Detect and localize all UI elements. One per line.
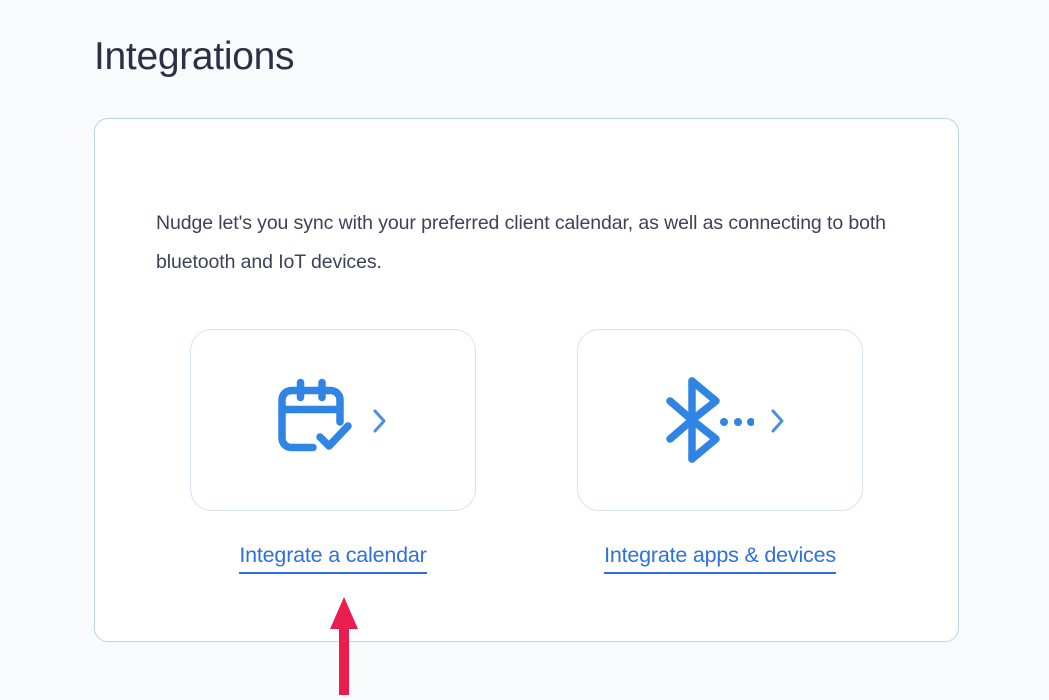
apps-devices-link-wrapper: Integrate apps & devices bbox=[577, 544, 863, 574]
calendar-link-wrapper: Integrate a calendar bbox=[190, 544, 476, 574]
page-title: Integrations bbox=[94, 34, 294, 81]
chevron-right-icon[interactable] bbox=[770, 407, 786, 435]
integrations-card: Nudge let's you sync with your preferred… bbox=[94, 118, 959, 642]
integration-option-apps-devices: Integrate apps & devices bbox=[577, 329, 863, 574]
chevron-right-icon[interactable] bbox=[372, 407, 388, 435]
integration-tiles-row: Integrate a calendar bbox=[95, 119, 958, 641]
apps-devices-tile-button[interactable] bbox=[577, 329, 863, 511]
integrate-apps-devices-link[interactable]: Integrate apps & devices bbox=[604, 544, 836, 574]
calendar-check-icon bbox=[278, 378, 356, 462]
integration-option-calendar: Integrate a calendar bbox=[190, 329, 476, 574]
integrate-a-calendar-link[interactable]: Integrate a calendar bbox=[239, 544, 426, 574]
bluetooth-dots-icon bbox=[654, 377, 754, 463]
calendar-tile-button[interactable] bbox=[190, 329, 476, 511]
